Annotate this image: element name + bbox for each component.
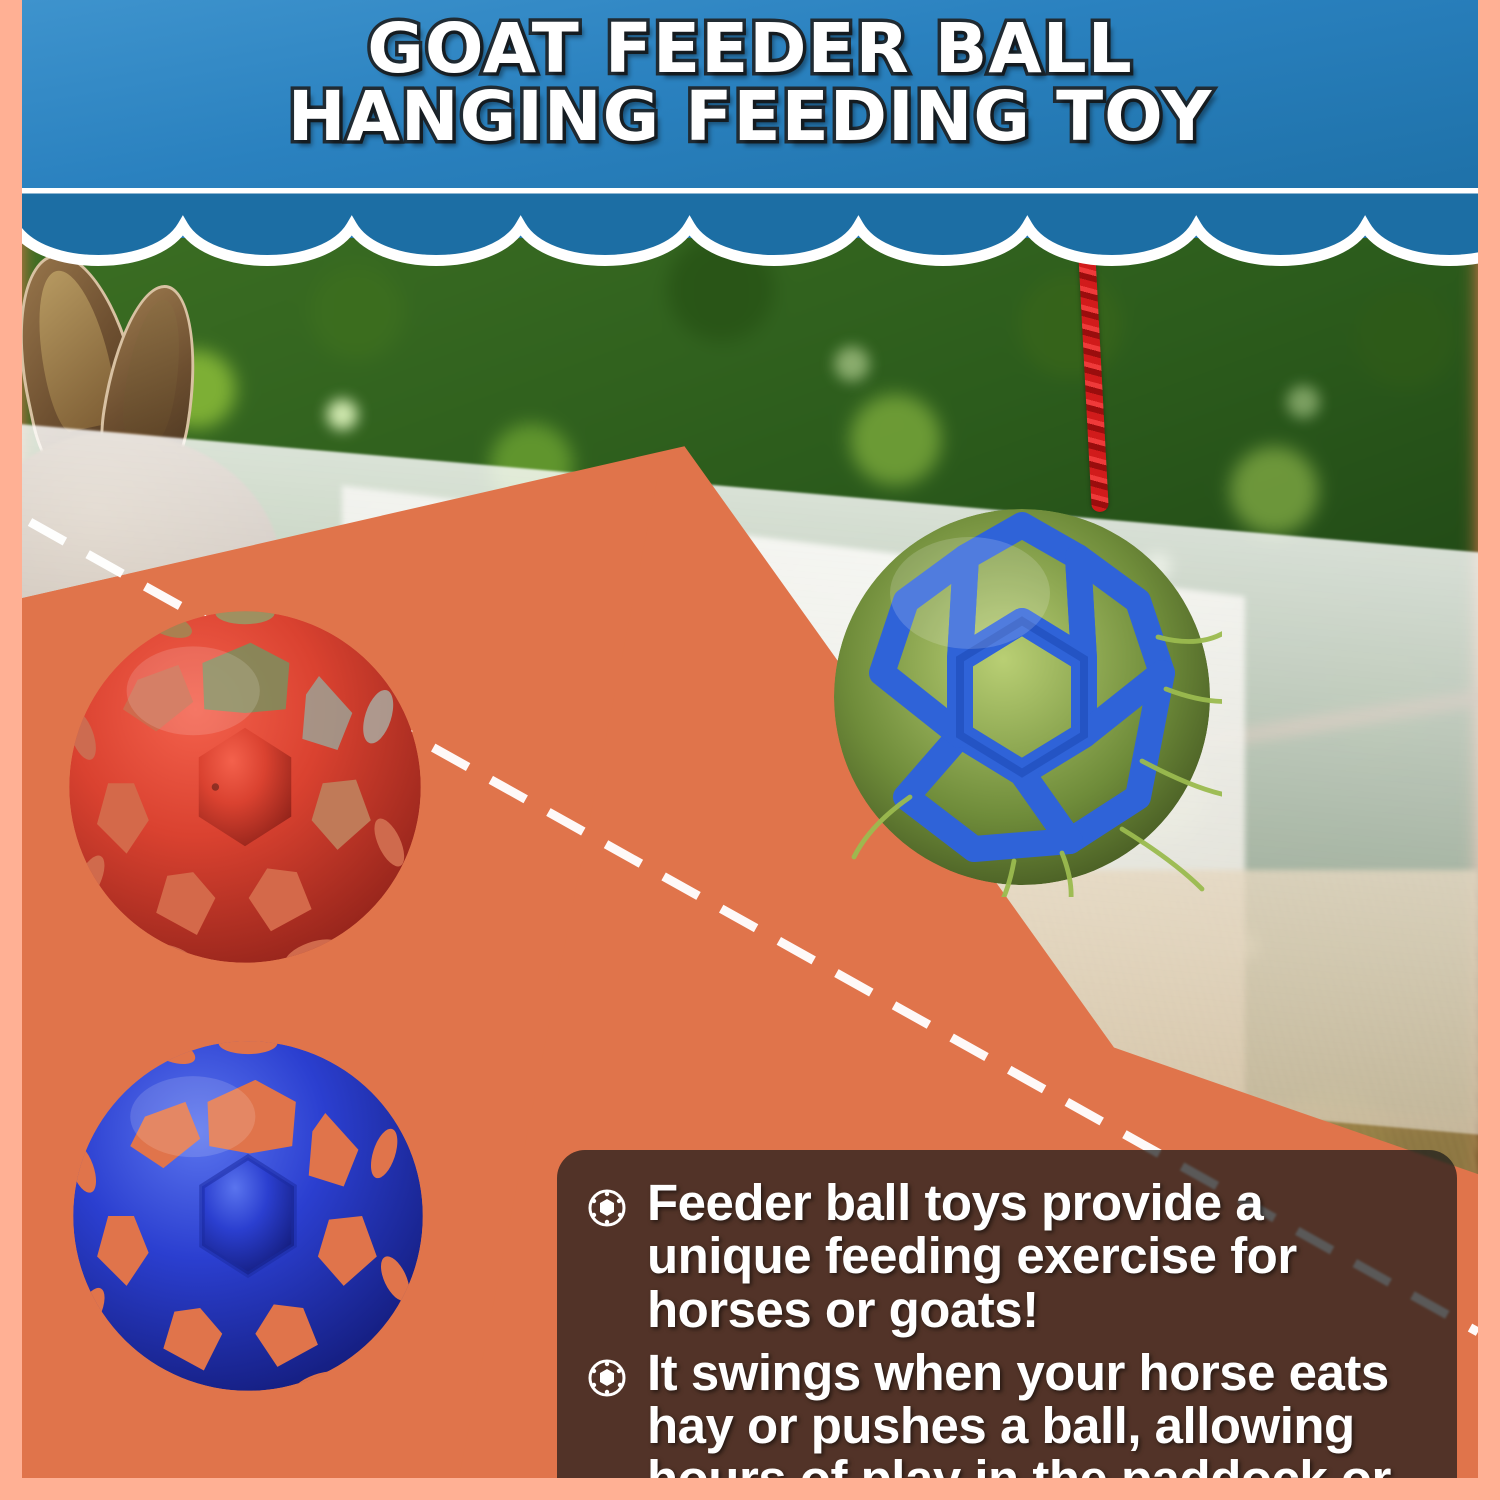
- feature-bullet-1: Feeder ball toys provide a unique feedin…: [587, 1176, 1423, 1336]
- feeder-ball-bullet-icon: [587, 1188, 627, 1228]
- title-banner: GOAT FEEDER BALL HANGING FEEDING TOY: [22, 0, 1478, 238]
- product-poster: Feeder ball toys provide a unique feedin…: [0, 0, 1500, 1500]
- feeder-ball-bullet-icon: [587, 1358, 627, 1398]
- hero-photo-collage: Feeder ball toys provide a unique feedin…: [22, 212, 1478, 1478]
- page-title: GOAT FEEDER BALL HANGING FEEDING TOY: [22, 16, 1478, 151]
- feature-bullet-2-text: It swings when your horse eats hay or pu…: [647, 1346, 1423, 1478]
- red-feeder-ball: [60, 602, 430, 972]
- poster-inner-frame: Feeder ball toys provide a unique feedin…: [22, 0, 1478, 1478]
- feature-bullet-2: It swings when your horse eats hay or pu…: [587, 1346, 1423, 1478]
- feature-bullet-1-text: Feeder ball toys provide a unique feedin…: [647, 1176, 1423, 1336]
- blue-feeder-ball: [64, 1032, 432, 1400]
- features-callout-box: Feeder ball toys provide a unique feedin…: [557, 1150, 1457, 1478]
- hero-feeder-ball: [822, 497, 1222, 897]
